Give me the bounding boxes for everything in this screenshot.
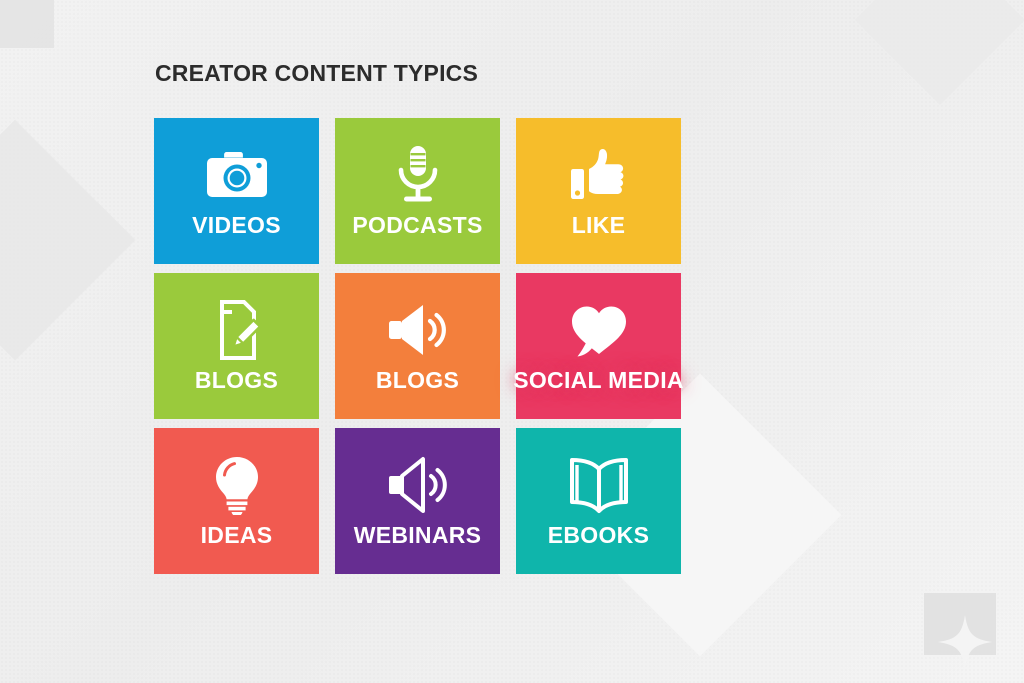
four-point-star-icon — [938, 615, 982, 655]
tile-like[interactable]: LIKE — [516, 118, 681, 264]
tile-label: BLOGS — [195, 369, 278, 392]
slide-canvas: CREATOR CONTENT TYPICS VIDEOS — [0, 0, 1024, 683]
background-square-top-left — [0, 0, 54, 48]
lightbulb-icon — [212, 452, 262, 518]
tile-label: IDEAS — [201, 524, 273, 547]
thumbs-up-icon — [569, 142, 629, 208]
microphone-icon — [390, 142, 446, 208]
tile-ideas[interactable]: IDEAS — [154, 428, 319, 574]
camera-icon — [204, 142, 270, 208]
tile-videos[interactable]: VIDEOS — [154, 118, 319, 264]
background-chevron-top-right — [855, 0, 1024, 105]
tile-ebooks[interactable]: EBOOKS — [516, 428, 681, 574]
megaphone-speaker-icon — [385, 452, 451, 518]
tile-label: VIDEOS — [192, 214, 281, 237]
background-chevron-left — [0, 120, 135, 360]
tile-blogs-speaker[interactable]: BLOGS — [335, 273, 500, 419]
tile-blogs-document[interactable]: BLOGS — [154, 273, 319, 419]
speaker-icon — [385, 297, 451, 363]
tile-podcasts[interactable]: PODCASTS — [335, 118, 500, 264]
tile-webinars[interactable]: WEBINARS — [335, 428, 500, 574]
content-type-grid: VIDEOS PODCASTS — [154, 118, 681, 574]
tile-label: BLOGS — [376, 369, 459, 392]
tile-label: PODCASTS — [352, 214, 482, 237]
tile-label: SOCIAL MEDIA — [513, 369, 684, 392]
tile-label: LIKE — [572, 214, 626, 237]
tile-social-media[interactable]: SOCIAL MEDIA — [516, 273, 681, 419]
watermark-logo — [924, 593, 996, 655]
tile-label: EBOOKS — [548, 524, 649, 547]
page-title: CREATOR CONTENT TYPICS — [155, 60, 478, 87]
heart-speech-bubble-icon — [568, 297, 630, 363]
open-book-icon — [566, 452, 632, 518]
tile-label: WEBINARS — [354, 524, 482, 547]
document-pencil-icon — [209, 297, 265, 363]
